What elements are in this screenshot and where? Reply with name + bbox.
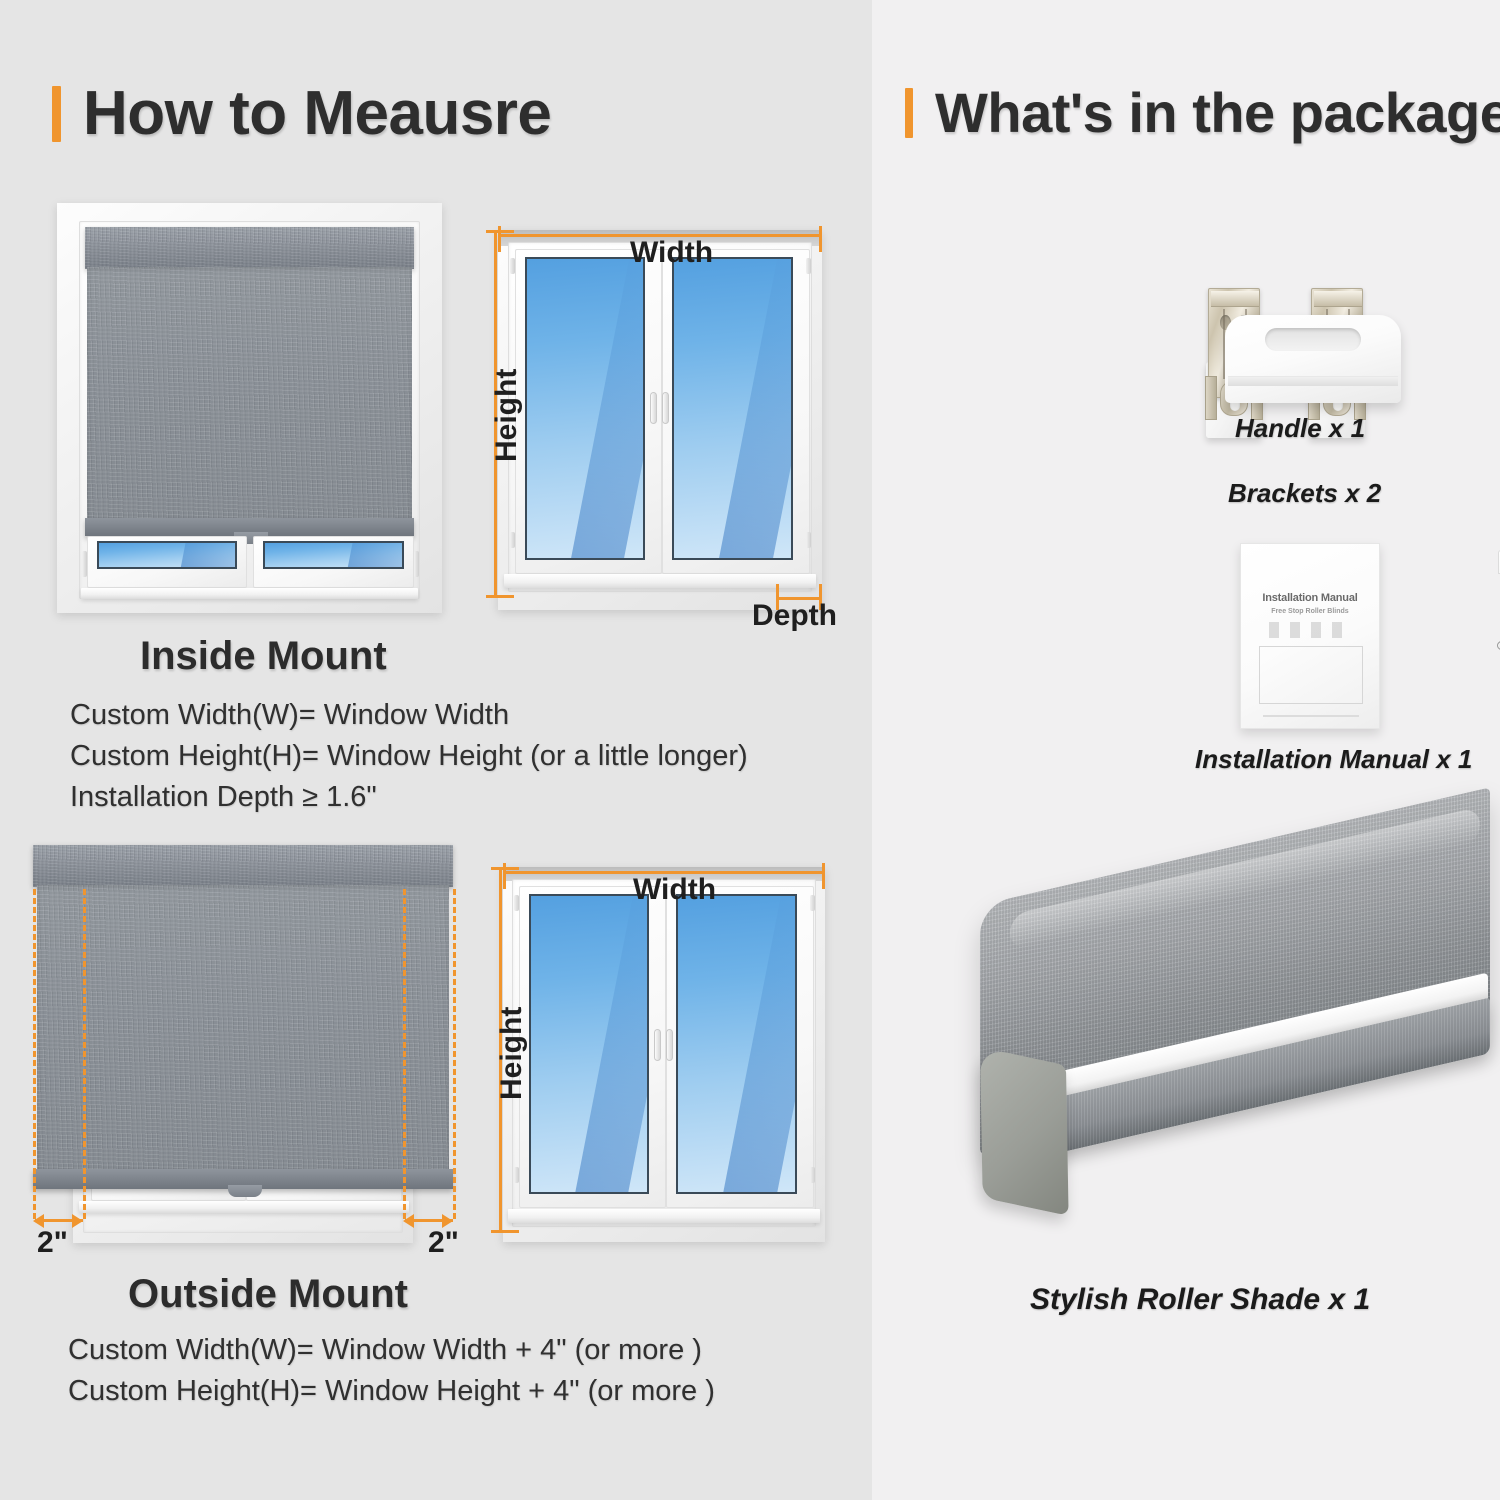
overhang-dash-right-inner <box>403 889 406 1219</box>
height-dim-cap-top <box>486 230 514 233</box>
window-handle-left <box>654 1029 661 1061</box>
manual-label: Installation Manual x 1 <box>1195 744 1472 775</box>
outside-mount-line-2: Custom Height(H)= Window Height + 4" (or… <box>68 1373 715 1410</box>
window-pane-left <box>529 894 649 1194</box>
outside-mount-title: Outside Mount <box>128 1272 408 1317</box>
width-dim-cap-right <box>822 863 825 889</box>
shade-pull-tab <box>228 1185 262 1197</box>
shade-fabric <box>87 267 412 520</box>
inside-mount-measure-diagram: Width Height Depth <box>470 212 850 622</box>
outside-mount-measure-diagram: Width Height <box>475 853 850 1253</box>
window-hinge-right <box>414 551 419 577</box>
overhang-dash-right-outer <box>453 889 456 1219</box>
window-pane-right <box>676 894 797 1194</box>
window-sill <box>508 1209 820 1223</box>
window-pane-right <box>263 541 404 569</box>
manual-cover-title: Installation Manual <box>1241 592 1379 604</box>
handle-item <box>1225 315 1401 403</box>
window-hinge-bottom-right <box>806 532 811 548</box>
shade-valance <box>33 845 453 887</box>
accent-bar-icon <box>52 86 61 142</box>
width-label: Width <box>633 873 716 907</box>
bracket-side-tab-left <box>1205 376 1217 420</box>
bracket-metal-top <box>1211 291 1259 307</box>
overhang-dash-left-outer <box>33 889 36 1219</box>
roller-shade-end-cap <box>980 1047 1069 1216</box>
handle-label: Handle x 1 <box>1235 413 1365 444</box>
inside-mount-description: Custom Width(W)= Window Width Custom Hei… <box>70 697 748 820</box>
manual-cover-icons <box>1269 622 1353 638</box>
accent-bar-icon <box>905 88 913 138</box>
window-sill <box>504 574 816 588</box>
package-title: What's in the package <box>935 80 1500 145</box>
infographic-page: How to Meausre <box>0 0 1500 1500</box>
manual-cover-subtitle: Free Stop Roller Blinds <box>1241 608 1379 615</box>
width-dim-cap-right <box>819 226 822 252</box>
inside-mount-title: Inside Mount <box>140 634 387 679</box>
window-sill <box>81 588 418 599</box>
height-label: Height <box>495 1007 529 1100</box>
window-hinge-left <box>82 551 87 577</box>
inside-mount-line-2: Custom Height(H)= Window Height (or a li… <box>70 738 748 775</box>
manual-cover-footer <box>1263 715 1359 717</box>
height-dim-cap-bottom <box>486 595 514 598</box>
how-to-measure-panel: How to Meausre <box>0 0 872 1500</box>
outside-mount-description: Custom Width(W)= Window Width + 4" (or m… <box>68 1332 715 1414</box>
height-label: Height <box>490 369 524 462</box>
overhang-label-right: 2" <box>428 1226 459 1260</box>
window-hinge-bottom-left <box>510 532 515 548</box>
inside-mount-shade-illustration <box>57 203 442 613</box>
inside-mount-line-3: Installation Depth ≥ 1.6" <box>70 779 748 816</box>
inside-mount-line-1: Custom Width(W)= Window Width <box>70 697 748 734</box>
roller-shade-product <box>980 905 1490 1235</box>
height-dim-cap-top <box>491 867 519 870</box>
window-hinge-top-right <box>806 258 811 274</box>
window-hinge-bottom-right <box>810 1167 815 1183</box>
window-handle-right <box>662 392 669 424</box>
window-handle-left <box>650 392 657 424</box>
manual-item: Installation Manual Free Stop Roller Bli… <box>1240 543 1380 729</box>
shade-valance <box>85 227 414 269</box>
shade-fabric <box>37 885 449 1171</box>
window-pane-left <box>525 257 645 560</box>
window-pane-right <box>672 257 793 560</box>
window-hinge-top-right <box>810 895 815 911</box>
window-pane-left <box>97 541 237 569</box>
window-hinge-top-left <box>510 258 515 274</box>
overhang-arrow-head-right-inner <box>403 1214 414 1228</box>
window-handle-right <box>666 1029 673 1061</box>
bracket-metal-top <box>1314 291 1362 307</box>
window-hinge-bottom-left <box>514 1167 519 1183</box>
height-dim-cap-bottom <box>491 1230 519 1233</box>
depth-label: Depth <box>752 599 837 633</box>
outside-mount-shade-illustration: 2" 2" <box>25 845 465 1255</box>
manual-cover-illustration <box>1259 646 1363 704</box>
how-to-measure-heading: How to Meausre <box>52 78 551 149</box>
width-label: Width <box>630 236 713 270</box>
brackets-label: Brackets x 2 <box>1228 478 1381 509</box>
package-contents-panel: What's in the package <box>872 0 1500 1500</box>
window-sill <box>79 1201 409 1213</box>
roller-shade-label: Stylish Roller Shade x 1 <box>1030 1283 1370 1317</box>
window-hinge-top-left <box>514 895 519 911</box>
overhang-dash-left-inner <box>83 889 86 1219</box>
overhang-label-left: 2" <box>37 1226 68 1260</box>
outside-mount-line-1: Custom Width(W)= Window Width + 4" (or m… <box>68 1332 715 1369</box>
overhang-arrow-head-left-inner <box>72 1214 83 1228</box>
how-to-measure-title: How to Meausre <box>83 78 551 149</box>
package-heading: What's in the package <box>905 80 1500 145</box>
